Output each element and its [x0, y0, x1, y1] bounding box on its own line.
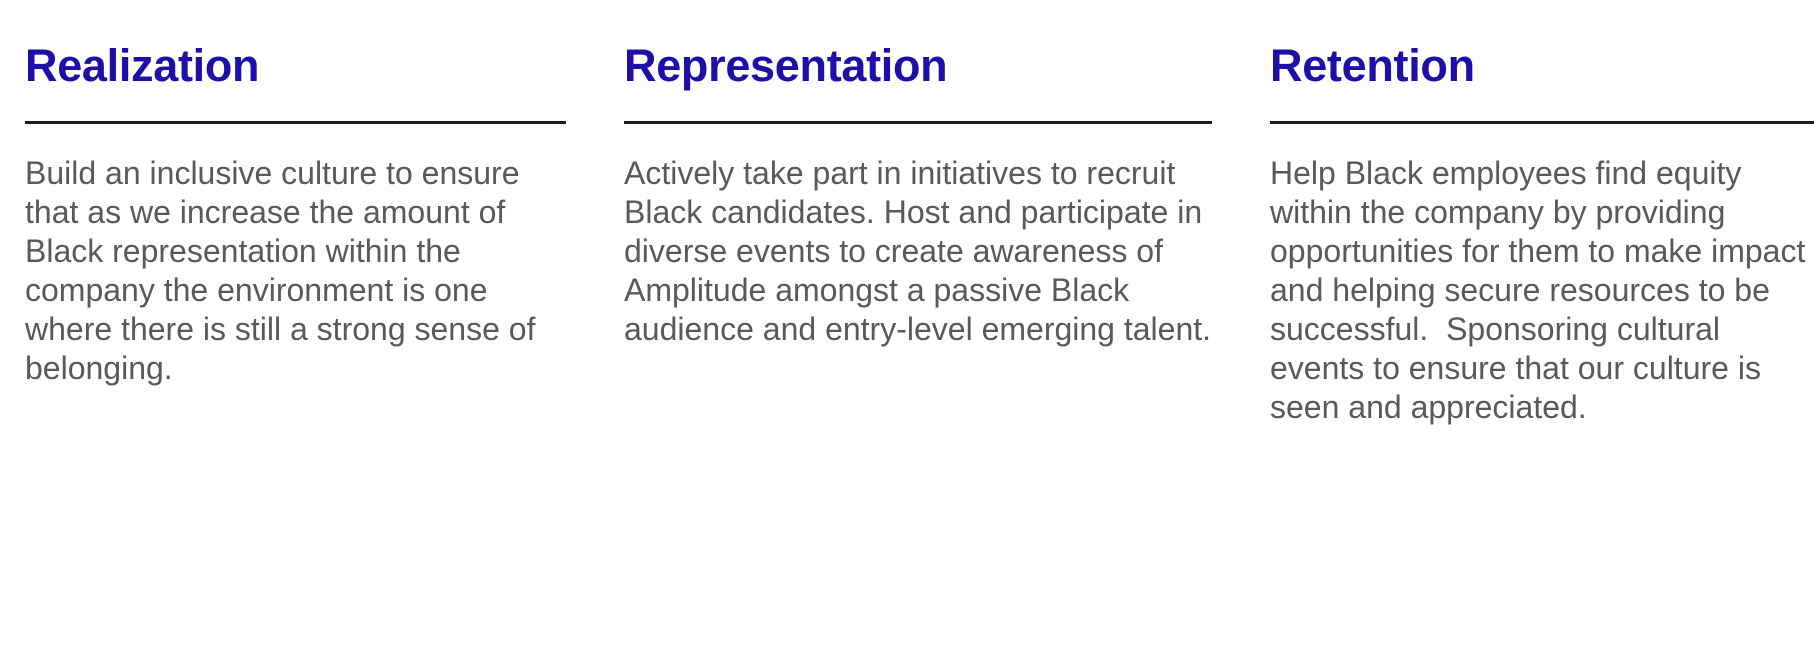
- column-realization: Realization Build an inclusive culture t…: [25, 42, 566, 420]
- column-body-representation: Actively take part in initiatives to rec…: [624, 154, 1212, 349]
- three-pillars-board: Realization Build an inclusive culture t…: [0, 0, 1814, 648]
- column-divider-retention: [1270, 121, 1814, 124]
- column-title-retention: Retention: [1270, 42, 1814, 89]
- column-divider-representation: [624, 121, 1212, 124]
- columns-container: Realization Build an inclusive culture t…: [0, 0, 1814, 648]
- column-representation: Representation Actively take part in ini…: [624, 42, 1212, 381]
- column-body-realization: Build an inclusive culture to ensure tha…: [25, 154, 566, 388]
- column-title-representation: Representation: [624, 42, 1212, 89]
- column-retention: Retention Help Black employees find equi…: [1270, 42, 1814, 459]
- column-body-retention: Help Black employees find equity within …: [1270, 154, 1814, 427]
- column-title-realization: Realization: [25, 42, 566, 89]
- column-divider-realization: [25, 121, 566, 124]
